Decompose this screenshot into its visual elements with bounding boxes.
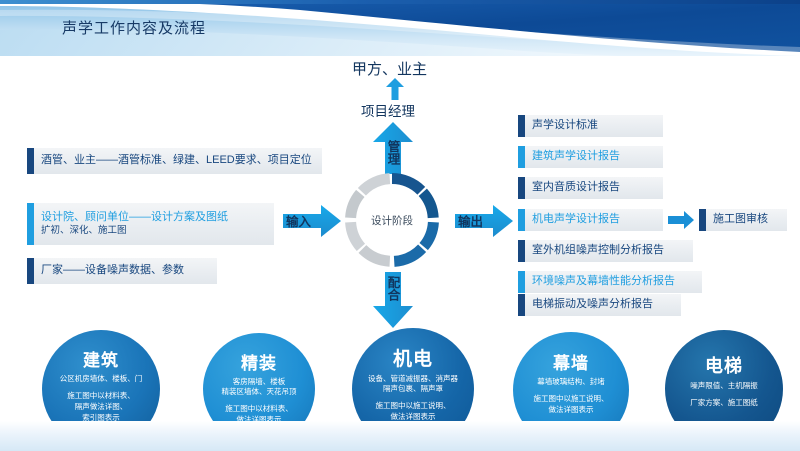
output-box-3[interactable]: 室内音质设计报告	[518, 177, 663, 199]
arrow-down-coordination-icon	[373, 272, 413, 328]
discipline-sub: 设备、管道减振器、消声器 隔声包裹、隔声罩	[368, 374, 458, 394]
discipline-note: 施工图中以施工说明、 做法详图表示	[376, 401, 451, 423]
output-box-2-text: 建筑声学设计报告	[532, 150, 620, 164]
discipline-title: 精装	[241, 349, 277, 374]
accent-bar	[699, 209, 706, 231]
output-box-2[interactable]: 建筑声学设计报告	[518, 146, 663, 168]
accent-bar	[27, 258, 34, 284]
review-box[interactable]: 施工图审核	[699, 209, 787, 231]
input-box-1-text: 酒管、业主——酒管标准、绿建、LEED要求、项目定位	[41, 154, 312, 168]
accent-bar	[27, 203, 34, 245]
owner-node: 甲方、业主	[352, 58, 427, 79]
bottom-strip	[0, 421, 800, 451]
arrow-right-review-icon	[668, 211, 694, 229]
input-box-2[interactable]: 设计院、顾问单位——设计方案及图纸 扩初、深化、施工图	[27, 203, 274, 245]
discipline-title: 电梯	[705, 352, 743, 378]
output-box-3-text: 室内音质设计报告	[532, 181, 620, 195]
slide-canvas: 声学工作内容及流程 甲方、业主 项目经理 管理	[0, 0, 800, 451]
discipline-title: 机电	[393, 344, 433, 371]
output-box-5-text: 室外机组噪声控制分析报告	[532, 244, 664, 258]
accent-bar	[27, 148, 34, 174]
review-box-text: 施工图审核	[713, 213, 768, 227]
arrow-up-management-icon	[373, 122, 413, 174]
discipline-title: 建筑	[83, 346, 119, 371]
discipline-sub: 幕墙玻璃结构、封堵	[537, 377, 605, 387]
arrow-right-input-icon	[283, 205, 341, 237]
arrow-up-to-owner-icon	[386, 78, 404, 100]
output-box-5[interactable]: 室外机组噪声控制分析报告	[518, 240, 693, 262]
discipline-note: 施工图中以材料表、 隔声做法详图、 索引图表示	[67, 391, 135, 424]
output-box-1[interactable]: 声学设计标准	[518, 115, 663, 137]
discipline-sub: 客房隔墙、楼板 精装区墙体、天花吊顶	[222, 377, 297, 397]
discipline-note: 厂家方案、施工图纸	[690, 398, 758, 409]
output-box-1-text: 声学设计标准	[532, 119, 598, 133]
project-manager-node: 项目经理	[361, 100, 415, 120]
accent-bar	[518, 294, 525, 316]
accent-bar	[518, 240, 525, 262]
design-stage-label: 设计阶段	[345, 213, 439, 228]
output-box-7-text: 电梯振动及噪声分析报告	[532, 298, 653, 312]
accent-bar	[518, 146, 525, 168]
output-box-4-text: 机电声学设计报告	[532, 213, 620, 227]
input-box-1[interactable]: 酒管、业主——酒管标准、绿建、LEED要求、项目定位	[27, 148, 322, 174]
input-box-2-subtext: 扩初、深化、施工图	[41, 225, 228, 237]
discipline-note: 施工图中以施工说明、 做法详图表示	[534, 394, 609, 416]
accent-bar	[518, 271, 525, 293]
discipline-sub: 公区机房墙体、楼板、门	[60, 374, 143, 384]
output-box-4[interactable]: 机电声学设计报告	[518, 209, 663, 231]
output-box-7[interactable]: 电梯振动及噪声分析报告	[518, 294, 681, 316]
discipline-title: 幕墙	[553, 349, 589, 374]
input-box-3-text: 厂家——设备噪声数据、参数	[41, 264, 184, 278]
accent-bar	[518, 209, 525, 231]
arrow-right-output-icon	[455, 205, 513, 237]
accent-bar	[518, 115, 525, 137]
input-box-3[interactable]: 厂家——设备噪声数据、参数	[27, 258, 217, 284]
output-box-6[interactable]: 环境噪声及幕墙性能分析报告	[518, 271, 702, 293]
discipline-sub: 噪声限值、主机隔振	[690, 381, 758, 391]
input-box-2-text: 设计院、顾问单位——设计方案及图纸	[41, 211, 228, 225]
accent-bar	[518, 177, 525, 199]
page-title: 声学工作内容及流程	[62, 17, 206, 38]
output-box-6-text: 环境噪声及幕墙性能分析报告	[532, 275, 675, 289]
